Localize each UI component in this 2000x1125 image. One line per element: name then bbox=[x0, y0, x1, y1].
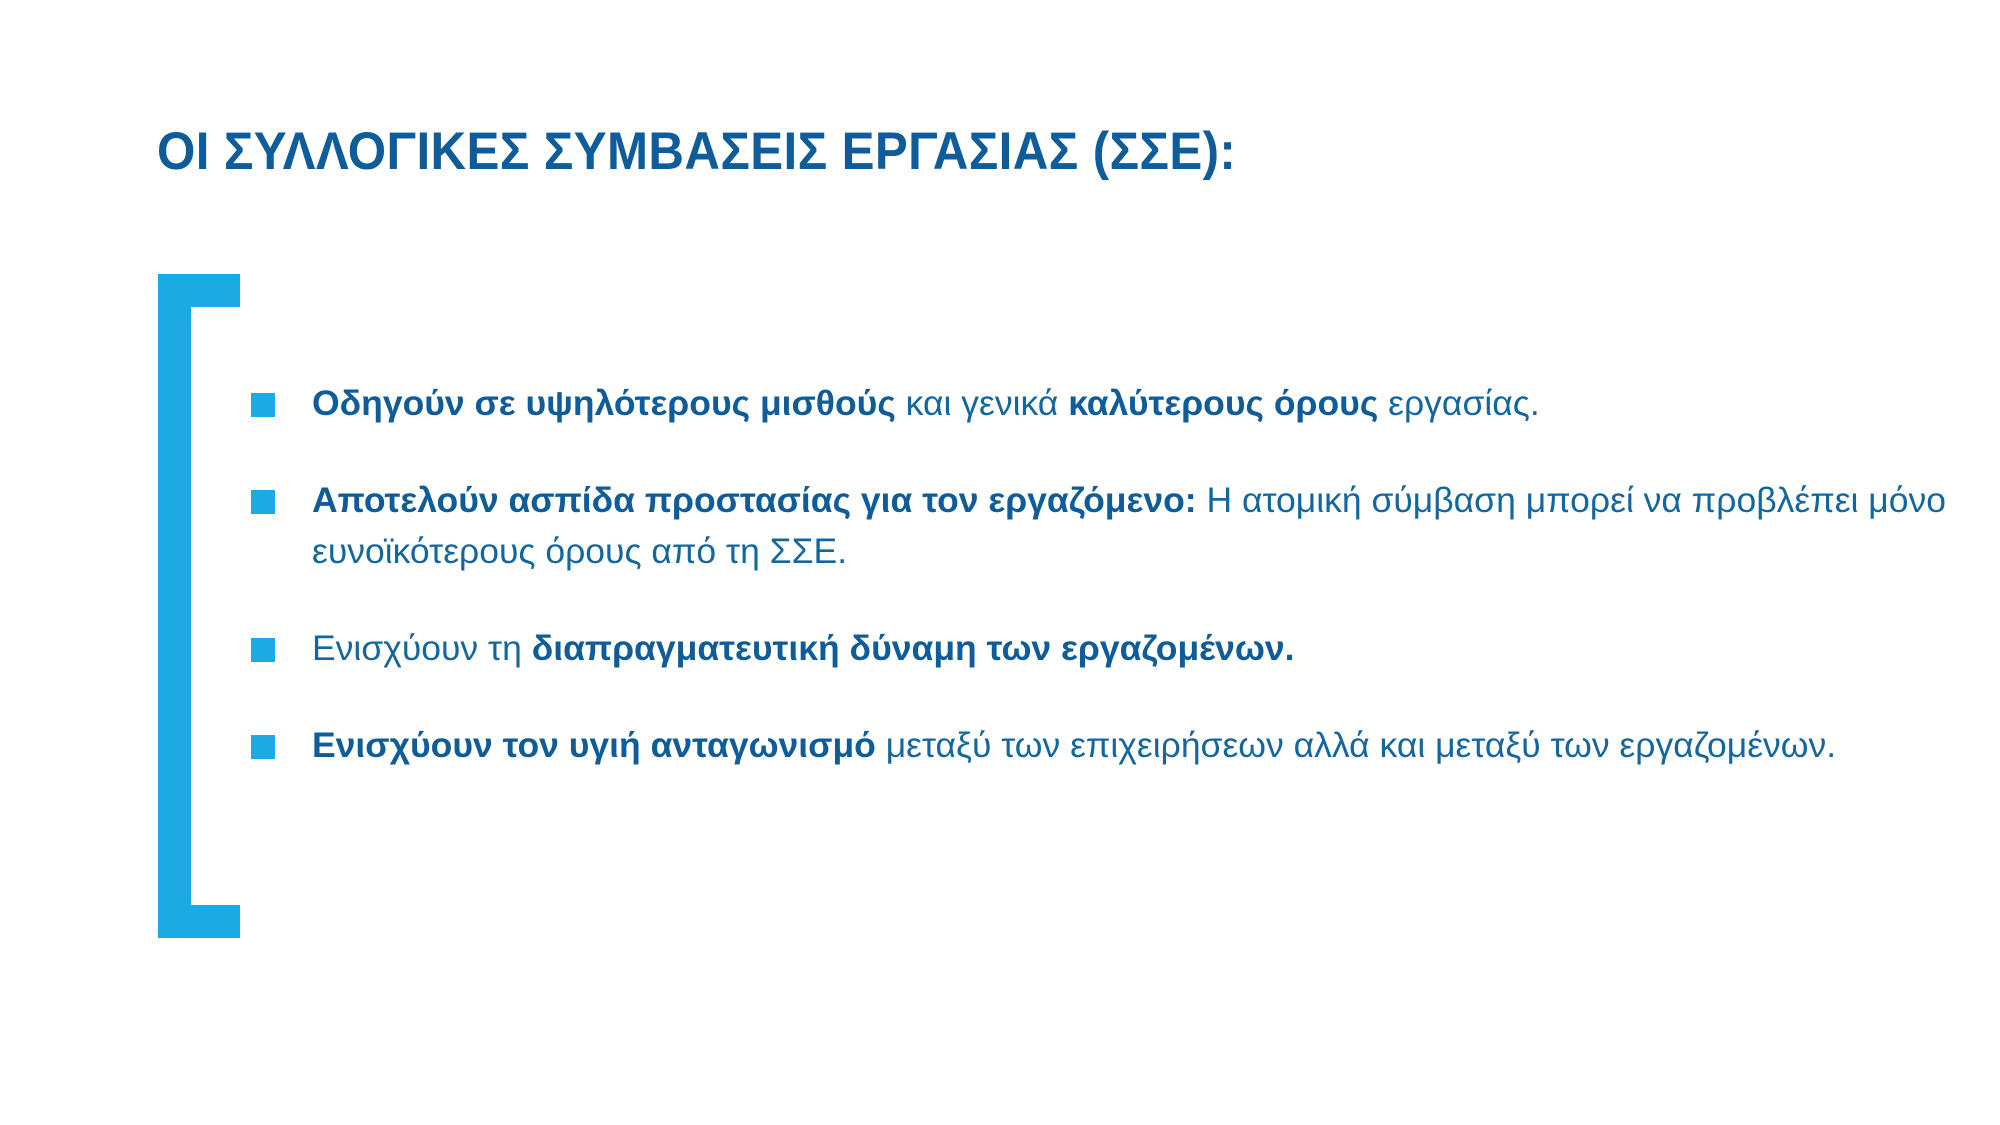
presentation-slide: ΟΙ ΣΥΛΛΟΓΙΚΕΣ ΣΥΜΒΑΣΕΙΣ ΕΡΓΑΣΙΑΣ (ΣΣΕ): … bbox=[0, 0, 2000, 1125]
page-title: ΟΙ ΣΥΛΛΟΓΙΚΕΣ ΣΥΜΒΑΣΕΙΣ ΕΡΓΑΣΙΑΣ (ΣΣΕ): bbox=[157, 122, 1738, 183]
square-bullet-icon bbox=[251, 393, 275, 417]
list-item: Οδηγούν σε υψηλότερους μισθούς και γενικ… bbox=[251, 378, 1951, 429]
bracket-arm-bottom bbox=[158, 905, 240, 938]
list-item-text: Αποτελούν ασπίδα προστασίας για τον εργα… bbox=[312, 475, 1951, 577]
list-item-text: Ενισχύουν τη διαπραγματευτική δύναμη των… bbox=[312, 623, 1951, 674]
bracket-stem bbox=[158, 274, 191, 938]
list-item: Αποτελούν ασπίδα προστασίας για τον εργα… bbox=[251, 475, 1951, 577]
list-item: Ενισχύουν τον υγιή ανταγωνισμό μεταξύ τω… bbox=[251, 720, 1951, 771]
emphasis-text: διαπραγματευτική δύναμη των εργαζομένων. bbox=[532, 628, 1295, 668]
left-bracket-decoration bbox=[158, 274, 240, 938]
square-bullet-icon bbox=[251, 735, 275, 759]
body-text: και γενικά bbox=[896, 383, 1068, 423]
emphasis-text: Οδηγούν σε υψηλότερους μισθούς bbox=[312, 383, 896, 423]
emphasis-text: Αποτελούν ασπίδα προστασίας για τον εργα… bbox=[312, 480, 1197, 520]
body-text: μεταξύ των επιχειρήσεων αλλά και μεταξύ … bbox=[876, 725, 1836, 765]
body-text: εργασίας. bbox=[1378, 383, 1539, 423]
list-item-text: Ενισχύουν τον υγιή ανταγωνισμό μεταξύ τω… bbox=[312, 720, 1951, 771]
list-item: Ενισχύουν τη διαπραγματευτική δύναμη των… bbox=[251, 623, 1951, 674]
bracket-arm-top bbox=[158, 274, 240, 307]
square-bullet-icon bbox=[251, 638, 275, 662]
emphasis-text: καλύτερους όρους bbox=[1068, 383, 1378, 423]
bullet-list: Οδηγούν σε υψηλότερους μισθούς και γενικ… bbox=[251, 378, 1951, 771]
square-bullet-icon bbox=[251, 490, 275, 514]
body-text: Ενισχύουν τη bbox=[312, 628, 532, 668]
list-item-text: Οδηγούν σε υψηλότερους μισθούς και γενικ… bbox=[312, 378, 1951, 429]
emphasis-text: Ενισχύουν τον υγιή ανταγωνισμό bbox=[312, 725, 876, 765]
